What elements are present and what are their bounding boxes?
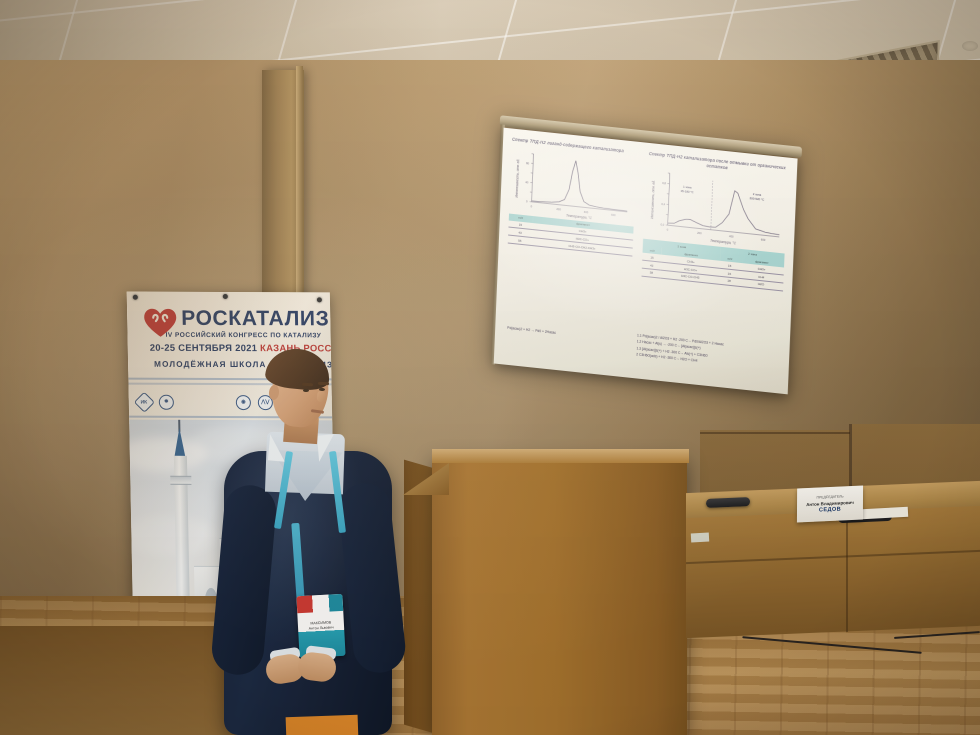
podium-front bbox=[432, 455, 687, 735]
svg-text:45-180 °C: 45-180 °C bbox=[681, 189, 694, 194]
svg-text:0: 0 bbox=[526, 199, 528, 203]
svg-text:200: 200 bbox=[556, 206, 561, 211]
left-tpd-chart: 0 40 80 0 200 400 600 bbox=[509, 145, 636, 224]
namecard-firstname: Антон Владимирович bbox=[806, 499, 854, 506]
microphone-icon bbox=[706, 497, 750, 508]
speaker-figure: МАКСИМОВ Антон Львович УЧАСТНИК bbox=[214, 355, 404, 735]
svg-text:0,4: 0,4 bbox=[661, 202, 665, 206]
slide-right-panel: Спектр ТПД-H2 катализатора после отмывки… bbox=[642, 151, 789, 292]
right-tpd-chart: 0,0 0,4 0,8 0 200 400 600 bbox=[643, 165, 788, 252]
namecard-role: ПРЕДСЕДАТЕЛЬ bbox=[817, 494, 844, 499]
podium-top-surface bbox=[432, 449, 689, 463]
desk-paper-scrap bbox=[691, 533, 709, 543]
desk-front-panel bbox=[686, 506, 980, 638]
projected-slide: Спектр ТПД-H2 лиганд-содержащего катализ… bbox=[494, 128, 798, 395]
svg-text:600: 600 bbox=[611, 212, 616, 217]
svg-text:Температура, °C: Температура, °C bbox=[710, 239, 737, 246]
projection-screen: Спектр ТПД-H2 лиганд-содержащего катализ… bbox=[493, 125, 797, 406]
svg-text:0: 0 bbox=[667, 228, 669, 232]
equation-left: Pd(acac)2 + H2 → Pd0 + 2Hacac bbox=[507, 325, 556, 336]
svg-text:400: 400 bbox=[729, 234, 734, 239]
svg-text:80: 80 bbox=[526, 161, 530, 165]
svg-text:0,0: 0,0 bbox=[660, 222, 664, 226]
badge-name-block: МАКСИМОВ Антон Львович bbox=[298, 620, 345, 633]
svg-text:Интенсивность, отн. ед.: Интенсивность, отн. ед. bbox=[515, 158, 521, 197]
svg-text:0: 0 bbox=[531, 204, 533, 208]
svg-text:300-520 °C: 300-520 °C bbox=[749, 196, 764, 202]
svg-text:40: 40 bbox=[525, 180, 529, 184]
svg-text:Интенсивность, отн. ед.: Интенсивность, отн. ед. bbox=[650, 180, 656, 219]
academy-seal-logo-icon: ✹ bbox=[159, 394, 174, 409]
banner-orange-base bbox=[286, 715, 359, 735]
slide-left-panel: Спектр ТПД-H2 лиганд-содержащего катализ… bbox=[508, 137, 637, 257]
banner-subtitle: IV РОССИЙСКИЙ КОНГРЕСС ПО КАТАЛИЗУ bbox=[165, 332, 321, 340]
svg-text:0,8: 0,8 bbox=[662, 181, 666, 185]
badge-header-band bbox=[296, 594, 343, 613]
svg-text:400: 400 bbox=[584, 209, 589, 214]
banner-title: РОСКАТАЛИЗ bbox=[181, 307, 330, 332]
conference-photo-scene: Спектр ТПД-H2 лиганд-содержащего катализ… bbox=[0, 0, 980, 735]
svg-text:200: 200 bbox=[697, 231, 702, 236]
svg-text:600: 600 bbox=[761, 238, 766, 243]
namecard-surname: СЕДОВ bbox=[819, 507, 841, 514]
equation-list: 1.1 Pd(acac)2 / Al2O3 + H2 -200 C→ Pd0/A… bbox=[636, 332, 724, 366]
desk-namecard: ПРЕДСЕДАТЕЛЬ Антон Владимирович СЕДОВ bbox=[797, 485, 863, 522]
hexagon-institute-logo-icon: ИК bbox=[134, 391, 155, 412]
minaret-balcony bbox=[170, 476, 191, 485]
